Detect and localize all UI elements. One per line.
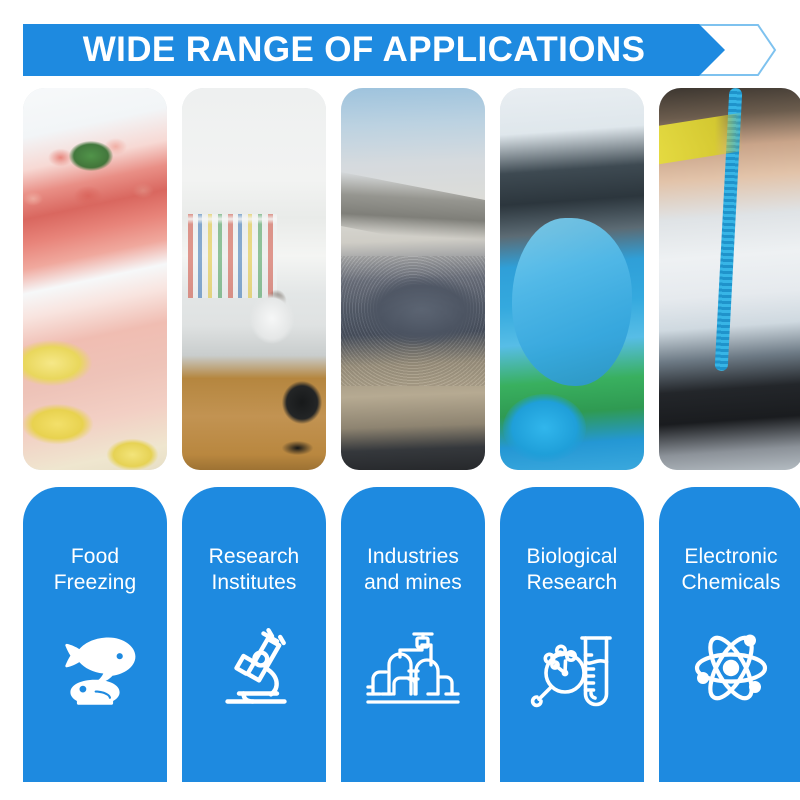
blue-flask-photo bbox=[500, 88, 644, 470]
header-banner: WIDE RANGE OF APPLICATIONS bbox=[23, 24, 777, 76]
application-photo-strip bbox=[23, 88, 777, 470]
card-biological-research[interactable]: Biological Research bbox=[500, 487, 644, 782]
industrial-plant-icon bbox=[364, 619, 462, 717]
biological-research-image bbox=[500, 88, 644, 470]
card-label: Industries and mines bbox=[364, 544, 462, 597]
research-laboratory-photo bbox=[182, 88, 326, 470]
card-label: Electronic Chemicals bbox=[682, 544, 781, 597]
card-industries-and-mines[interactable]: Industries and mines bbox=[341, 487, 485, 782]
mining-image bbox=[341, 88, 485, 470]
card-food-freezing[interactable]: Food Freezing bbox=[23, 487, 167, 782]
card-label: Research Institutes bbox=[209, 544, 300, 597]
card-label: Food Freezing bbox=[54, 544, 137, 597]
card-research-institutes[interactable]: Research Institutes bbox=[182, 487, 326, 782]
frozen-meat-and-fish-photo bbox=[23, 88, 167, 470]
microscope-icon bbox=[205, 619, 303, 717]
quarry-conveyor-photo bbox=[341, 88, 485, 470]
chemicals-image bbox=[659, 88, 800, 470]
page-title: WIDE RANGE OF APPLICATIONS bbox=[23, 24, 699, 76]
laboratory-image bbox=[182, 88, 326, 470]
application-label-strip: Food Freezing Research Institutes bbox=[23, 487, 777, 782]
electronic-chemicals-photo bbox=[659, 88, 800, 470]
test-tube-magnifier-icon bbox=[523, 619, 621, 717]
applications-infographic: WIDE RANGE OF APPLICATIONS Food Freezing bbox=[0, 0, 800, 800]
card-electronic-chemicals[interactable]: Electronic Chemicals bbox=[659, 487, 800, 782]
frozen-food-image bbox=[23, 88, 167, 470]
atom-icon bbox=[682, 619, 780, 717]
fish-and-meat-icon bbox=[46, 619, 144, 717]
card-label: Biological Research bbox=[527, 544, 618, 597]
